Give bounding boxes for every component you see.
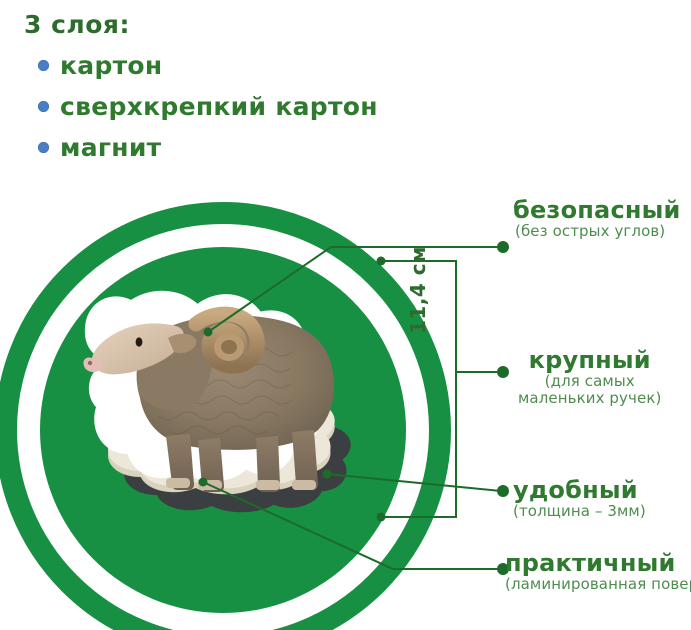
callout-title: удобный [513, 478, 646, 503]
legend-item-label: магнит [60, 133, 161, 162]
callout-safe: безопасный (без острых углов) [513, 198, 681, 240]
callout-big: крупный (для самых маленьких ручек) [518, 348, 661, 408]
legend-item-karton: картон [38, 51, 162, 80]
callout-subtitle: (без острых углов) [513, 223, 681, 240]
bullet-dot-icon [38, 101, 49, 112]
callout-practical: практичный (ламинированная поверхность) [505, 551, 691, 593]
legend-item-label: сверхкрепкий картон [60, 92, 378, 121]
callout-subtitle: (ламинированная поверхность) [505, 576, 691, 593]
legend-item-label: картон [60, 51, 162, 80]
callout-title: безопасный [513, 198, 681, 223]
callout-title: крупный [518, 348, 661, 373]
legend-item-magnit: магнит [38, 133, 161, 162]
callout-subtitle: (для самых [518, 373, 661, 390]
callout-convenient: удобный (толщина – 3мм) [513, 478, 646, 520]
callout-title: практичный [505, 551, 691, 576]
callout-subtitle-line2: маленьких ручек) [518, 390, 661, 407]
infographic-canvas: 3 слоя: картон сверхкрепкий картон магни… [0, 0, 691, 630]
legend-item-super-karton: сверхкрепкий картон [38, 92, 378, 121]
bullet-dot-icon [38, 60, 49, 71]
callout-subtitle: (толщина – 3мм) [513, 503, 646, 520]
dimension-label: 11,4 см [406, 246, 430, 334]
bullet-dot-icon [38, 142, 49, 153]
legend-title: 3 слоя: [24, 10, 130, 39]
